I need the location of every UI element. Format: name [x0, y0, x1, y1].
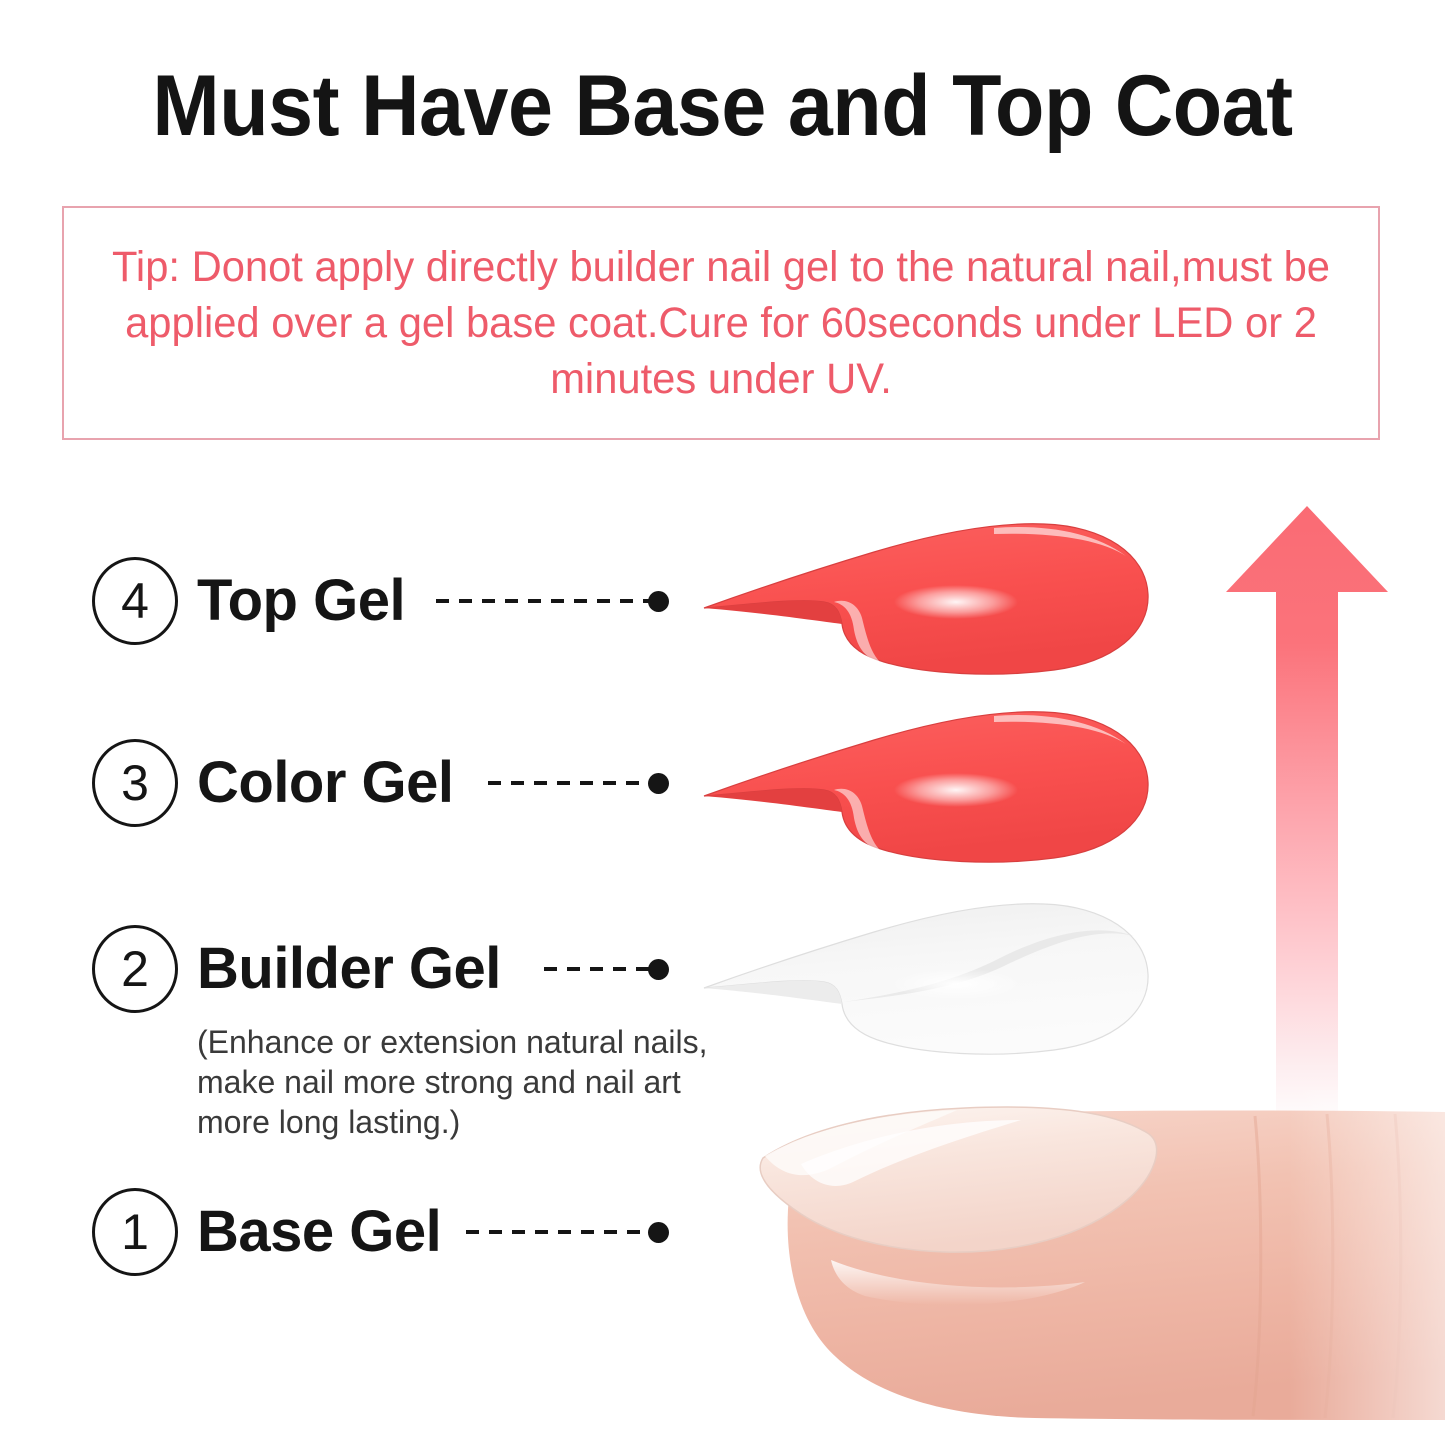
- step-label-top-gel: Top Gel: [197, 557, 405, 645]
- step-number-badge-3: 3: [92, 739, 178, 827]
- tip-box: Tip: Donot apply directly builder nail g…: [62, 206, 1380, 440]
- infographic-page: Must Have Base and Top Coat Tip: Donot a…: [0, 0, 1445, 1445]
- leader-dot-top-gel: [648, 591, 669, 612]
- top-gel-highlight: [894, 585, 1018, 619]
- finger-with-natural-nail: [735, 1090, 1445, 1445]
- leader-line-top-gel: [436, 599, 650, 603]
- step-label-color-gel: Color Gel: [197, 739, 454, 827]
- step-label-builder-gel: Builder Gel: [197, 925, 501, 1013]
- leader-line-base-gel: [466, 1230, 650, 1234]
- top-gel-nail-swatch: [694, 512, 1156, 682]
- builder-gel-nail-swatch: [694, 892, 1156, 1062]
- step-label-base-gel: Base Gel: [197, 1188, 441, 1276]
- upward-layer-arrow: [1218, 500, 1396, 1130]
- color-gel-nail-swatch: [694, 700, 1156, 870]
- finger-edge-fade: [735, 1090, 1445, 1445]
- step-number-badge-2: 2: [92, 925, 178, 1013]
- leader-dot-builder-gel: [648, 959, 669, 980]
- step-number-badge-1: 1: [92, 1188, 178, 1276]
- color-gel-highlight: [894, 773, 1018, 807]
- arrow-shape: [1226, 506, 1388, 1130]
- leader-line-builder-gel: [544, 967, 650, 971]
- leader-dot-base-gel: [648, 1222, 669, 1243]
- step-number-badge-4: 4: [92, 557, 178, 645]
- leader-line-color-gel: [488, 781, 650, 785]
- leader-dot-color-gel: [648, 773, 669, 794]
- page-title: Must Have Base and Top Coat: [43, 58, 1401, 154]
- tip-text: Tip: Donot apply directly builder nail g…: [84, 239, 1359, 407]
- builder-gel-note: (Enhance or extension natural nails, mak…: [197, 1022, 757, 1142]
- builder-gel-highlight: [890, 968, 1022, 1000]
